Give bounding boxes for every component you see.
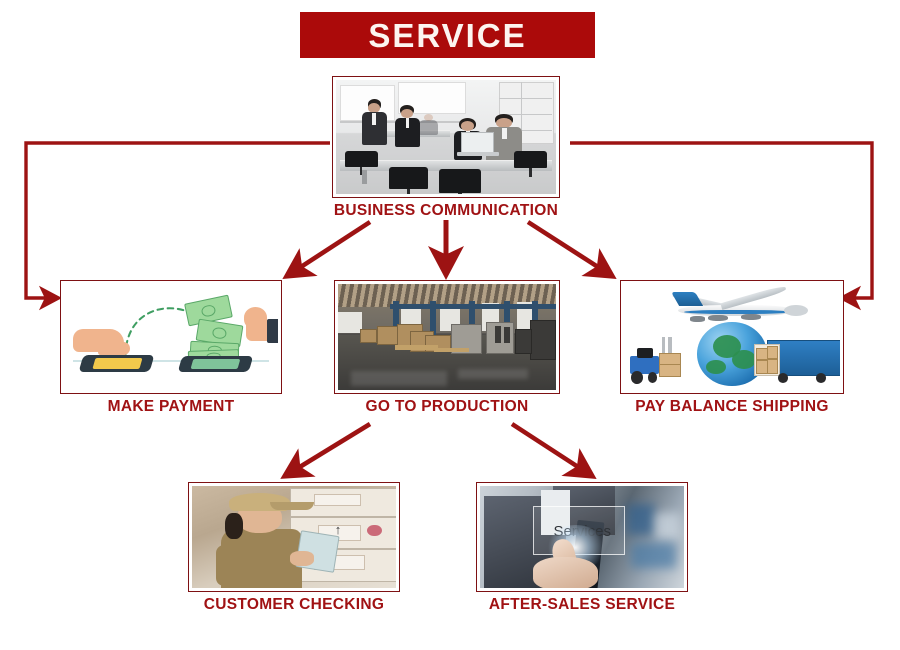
- touchscreen-illustration: Services: [480, 486, 684, 588]
- hand-icon: [533, 557, 598, 588]
- node-label-go-to-production: GO TO PRODUCTION: [294, 398, 600, 416]
- node-image-after-sales-service: Services: [480, 486, 684, 588]
- node-frame: [60, 280, 282, 394]
- connector-loop-left: [26, 143, 330, 298]
- node-label-customer-checking: CUSTOMER CHECKING: [148, 596, 440, 614]
- node-business-communication[interactable]: BUSINESS COMMUNICATION: [332, 76, 560, 198]
- shipping-container-icon: [754, 337, 840, 386]
- node-image-business-communication: [336, 80, 556, 194]
- up-arrow-icon: ↑: [335, 523, 342, 536]
- connector-diag-right: [528, 222, 612, 276]
- worker-checking-illustration: ↑ ↓: [192, 486, 396, 588]
- shipping-illustration: [624, 284, 840, 390]
- person-standing-left: [360, 99, 389, 154]
- node-make-payment[interactable]: MAKE PAYMENT: [60, 280, 282, 394]
- forklift-icon: [628, 337, 693, 386]
- factory-illustration: [338, 284, 556, 390]
- node-image-go-to-production: [338, 284, 556, 390]
- node-frame: ↑ ↓: [188, 482, 400, 592]
- service-flowchart: SERVICE: [0, 0, 900, 650]
- connector-diag-left: [287, 222, 370, 276]
- payment-illustration: [64, 284, 278, 390]
- airplane-icon: [663, 289, 814, 331]
- office-meeting-illustration: [336, 80, 556, 194]
- connector-loop-right: [570, 143, 872, 298]
- node-label-pay-balance-shipping: PAY BALANCE SHIPPING: [580, 398, 884, 416]
- node-image-customer-checking: ↑ ↓: [192, 486, 396, 588]
- connector-fan-left: [285, 424, 370, 476]
- node-image-make-payment: [64, 284, 278, 390]
- node-frame: [620, 280, 844, 394]
- node-customer-checking[interactable]: ↑ ↓ CUSTOMER CHECKING: [188, 482, 400, 592]
- node-pay-balance-shipping[interactable]: PAY BALANCE SHIPPING: [620, 280, 844, 394]
- node-label-business-communication: BUSINESS COMMUNICATION: [292, 202, 600, 220]
- node-frame: [334, 280, 560, 394]
- node-label-make-payment: MAKE PAYMENT: [20, 398, 322, 416]
- node-frame: [332, 76, 560, 198]
- node-label-after-sales-service: AFTER-SALES SERVICE: [436, 596, 728, 614]
- node-go-to-production[interactable]: GO TO PRODUCTION: [334, 280, 560, 394]
- node-image-pay-balance-shipping: [624, 284, 840, 390]
- connector-fan-right: [512, 424, 592, 476]
- node-after-sales-service[interactable]: Services AFTER-SALES SERVICE: [476, 482, 688, 592]
- node-frame: Services: [476, 482, 688, 592]
- person-standing-mid: [393, 105, 422, 155]
